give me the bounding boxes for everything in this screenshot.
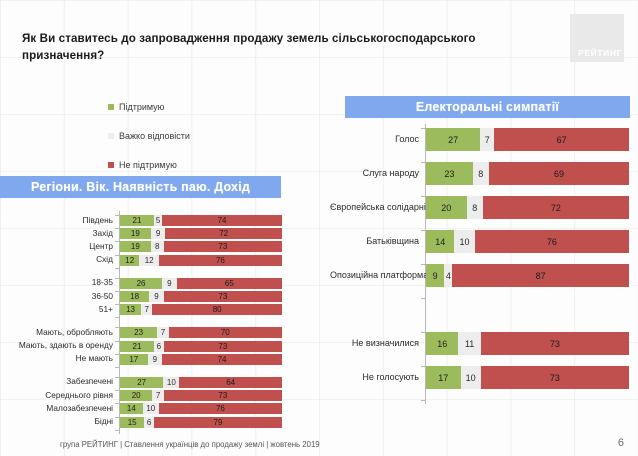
bar-segment-hard: 12 [139,255,158,266]
page-title: Як Ви ставитесь до запровадження продажу… [22,30,512,64]
axis-tick [115,341,119,342]
axis-tick [421,332,425,333]
axis-tick [421,128,425,129]
bar-segment-against: 72 [165,228,282,239]
footer-source: група РЕЙТИНГ | Ставлення українців до п… [60,440,320,449]
bar-segment-against: 73 [481,332,629,355]
bar-segment-against: 76 [475,230,629,253]
bar-segment-support: 23 [120,327,157,338]
chart-row-label: Слуга народу [330,169,419,178]
bar-segment-support: 26 [120,278,162,289]
chart-row-label: 36-50 [0,292,113,300]
rating-logo: РЕЙТИНГ [570,14,624,62]
bar-segment-against: 73 [481,366,629,389]
legend-item: Важко відповісти [108,129,190,143]
axis-tick [421,400,425,401]
slide-content: РЕЙТИНГ Як Ви ставитесь до запровадження… [0,0,638,456]
legend-item-label: Підтримую [119,102,164,112]
table-row: 23770 [120,327,282,338]
chart-electoral: Голос27767Слуга народу23869Європейська с… [330,120,635,425]
table-row: 141076 [120,403,282,414]
logo-label: РЕЙТИНГ [570,48,622,58]
table-row: 15679 [120,417,282,428]
chart-row-label: Схід [0,255,113,263]
bar-segment-support: 16 [426,332,458,355]
bar-segment-against: 74 [162,215,282,226]
chart-row-label: Європейська солідарність [330,203,419,212]
table-row: 23869 [426,162,629,185]
chart-row-label: Батьківщина [330,237,419,246]
chart-row-label: Мають, здають в оренду [0,341,113,349]
table-row: 19972 [120,228,282,239]
bar-segment-hard: 10 [143,403,159,414]
bar-segment-hard: 8 [473,162,489,185]
table-row: 171073 [426,366,629,389]
bar-segment-against: 80 [152,304,282,315]
bar-segment-hard: 5 [154,215,162,226]
bar-segment-support: 18 [120,291,149,302]
axis-tick [115,278,119,279]
bar-segment-against: 64 [179,377,282,388]
axis-tick [421,264,425,265]
bar-segment-hard: 9 [162,278,177,289]
bar-segment-support: 19 [120,228,151,239]
axis-tick [115,403,119,404]
legend-item: Підтримую [108,100,190,114]
legend-swatch-icon [108,104,114,110]
axis-tick [115,354,119,355]
chart-row-label: Мають, обробляють [0,328,113,336]
bar-segment-support: 15 [120,417,144,428]
bar-segment-against: 72 [483,196,629,219]
bar-segment-support: 12 [120,255,139,266]
chart-row-label: Південь [0,216,113,224]
axis-tick [115,317,119,318]
bar-segment-hard: 7 [152,390,163,401]
axis-tick [115,304,119,305]
chart-row-label: Середнього рівня [0,391,113,399]
bar-segment-against: 76 [159,255,282,266]
chart-row-label: Захід [0,229,113,237]
axis-tick [115,268,119,269]
bar-segment-hard: 9 [148,354,163,365]
axis-tick [115,367,119,368]
bar-segment-support: 21 [120,341,154,352]
bar-segment-hard: 6 [144,417,154,428]
chart-row-label: Забезпечені [0,377,113,385]
bar-segment-against: 87 [452,264,629,287]
bar-segment-hard: 8 [151,241,164,252]
table-row: 141076 [426,230,629,253]
legend-swatch-icon [108,162,114,168]
bar-segment-hard: 9 [149,291,164,302]
section-banner-demographics-label: Регіони. Вік. Наявність паю. Дохід [31,180,250,194]
table-row: 19873 [120,241,282,252]
axis-tick [421,298,425,299]
bar-segment-support: 17 [426,366,461,389]
axis-tick [115,291,119,292]
table-row: 121276 [120,255,282,266]
bar-segment-support: 13 [120,304,141,315]
axis-tick [421,230,425,231]
axis-tick [421,162,425,163]
chart-demographics: Південь21574Захід19972Центр19873Схід1212… [0,205,300,430]
chart-row-label: Голос [330,135,419,144]
page-number: 6 [618,437,624,449]
chart-row-label: Малозабезпечені [0,404,113,412]
table-row: 21574 [120,215,282,226]
bar-segment-support: 23 [426,162,473,185]
bar-segment-support: 20 [120,390,152,401]
legend-item-label: Не підтримую [119,160,177,170]
section-banner-demographics: Регіони. Вік. Наявність паю. Дохід [0,176,281,198]
table-row: 271064 [120,377,282,388]
bar-segment-hard: 9 [151,228,166,239]
table-row: 20872 [426,196,629,219]
table-row: 9487 [426,264,629,287]
legend-swatch-icon [108,133,114,139]
table-row: 13780 [120,304,282,315]
bar-segment-against: 70 [169,327,282,338]
axis-tick [421,196,425,197]
bar-segment-support: 14 [426,230,454,253]
chart-row-label: Не голосують [330,373,419,382]
axis-tick [115,417,119,418]
bar-segment-hard: 11 [458,332,480,355]
axis-tick [115,390,119,391]
bar-segment-against: 65 [177,278,282,289]
bar-segment-hard: 7 [141,304,152,315]
bar-segment-support: 17 [120,354,148,365]
chart-row-label: 51+ [0,305,113,313]
table-row: 161173 [426,332,629,355]
bar-segment-hard: 4 [444,264,452,287]
chart-row-label: Не визначилися [330,339,419,348]
axis-tick [115,255,119,256]
table-row: 17974 [120,354,282,365]
chart-row-label: Бідні [0,417,113,425]
chart-row-label: 18-35 [0,278,113,286]
axis-tick [115,430,119,431]
table-row: 26965 [120,278,282,289]
bar-segment-support: 19 [120,241,151,252]
bar-segment-support: 14 [120,403,143,414]
section-banner-electoral-label: Електоральні симпатії [416,100,559,114]
axis-tick [115,241,119,242]
table-row: 18973 [120,291,282,302]
table-row: 21673 [120,341,282,352]
bar-segment-hard: 7 [157,327,168,338]
bar-segment-support: 27 [426,128,480,151]
bar-segment-support: 9 [426,264,444,287]
bar-segment-against: 73 [164,291,282,302]
bar-segment-against: 76 [159,403,282,414]
chart-legend: ПідтримуюВажко відповістиНе підтримую [108,100,190,187]
axis-tick [115,377,119,378]
section-banner-electoral: Електоральні симпатії [345,96,630,118]
bar-segment-support: 27 [120,377,163,388]
bar-segment-against: 73 [164,241,282,252]
chart-row-label: Не мають [0,354,113,362]
bar-segment-support: 20 [426,196,467,219]
bar-segment-hard: 10 [461,366,481,389]
bar-segment-hard: 6 [154,341,164,352]
bar-segment-hard: 7 [480,128,494,151]
chart-row-label: Опозиційна платформа [330,271,419,280]
table-row: 27767 [426,128,629,151]
axis-tick [115,215,119,216]
axis-tick [115,228,119,229]
bar-segment-against: 67 [494,128,629,151]
bar-segment-against: 69 [489,162,629,185]
bar-segment-hard: 10 [454,230,474,253]
bar-segment-hard: 10 [163,377,179,388]
bar-segment-support: 21 [120,215,154,226]
table-row: 20773 [120,390,282,401]
axis-tick [421,366,425,367]
legend-item: Не підтримую [108,158,190,172]
bar-segment-against: 79 [154,417,282,428]
bar-segment-against: 73 [164,390,282,401]
axis-tick [115,327,119,328]
bar-segment-against: 73 [164,341,282,352]
legend-item-label: Важко відповісти [119,131,190,141]
bar-segment-hard: 8 [467,196,483,219]
bar-segment-against: 74 [162,354,282,365]
chart-row-label: Центр [0,242,113,250]
